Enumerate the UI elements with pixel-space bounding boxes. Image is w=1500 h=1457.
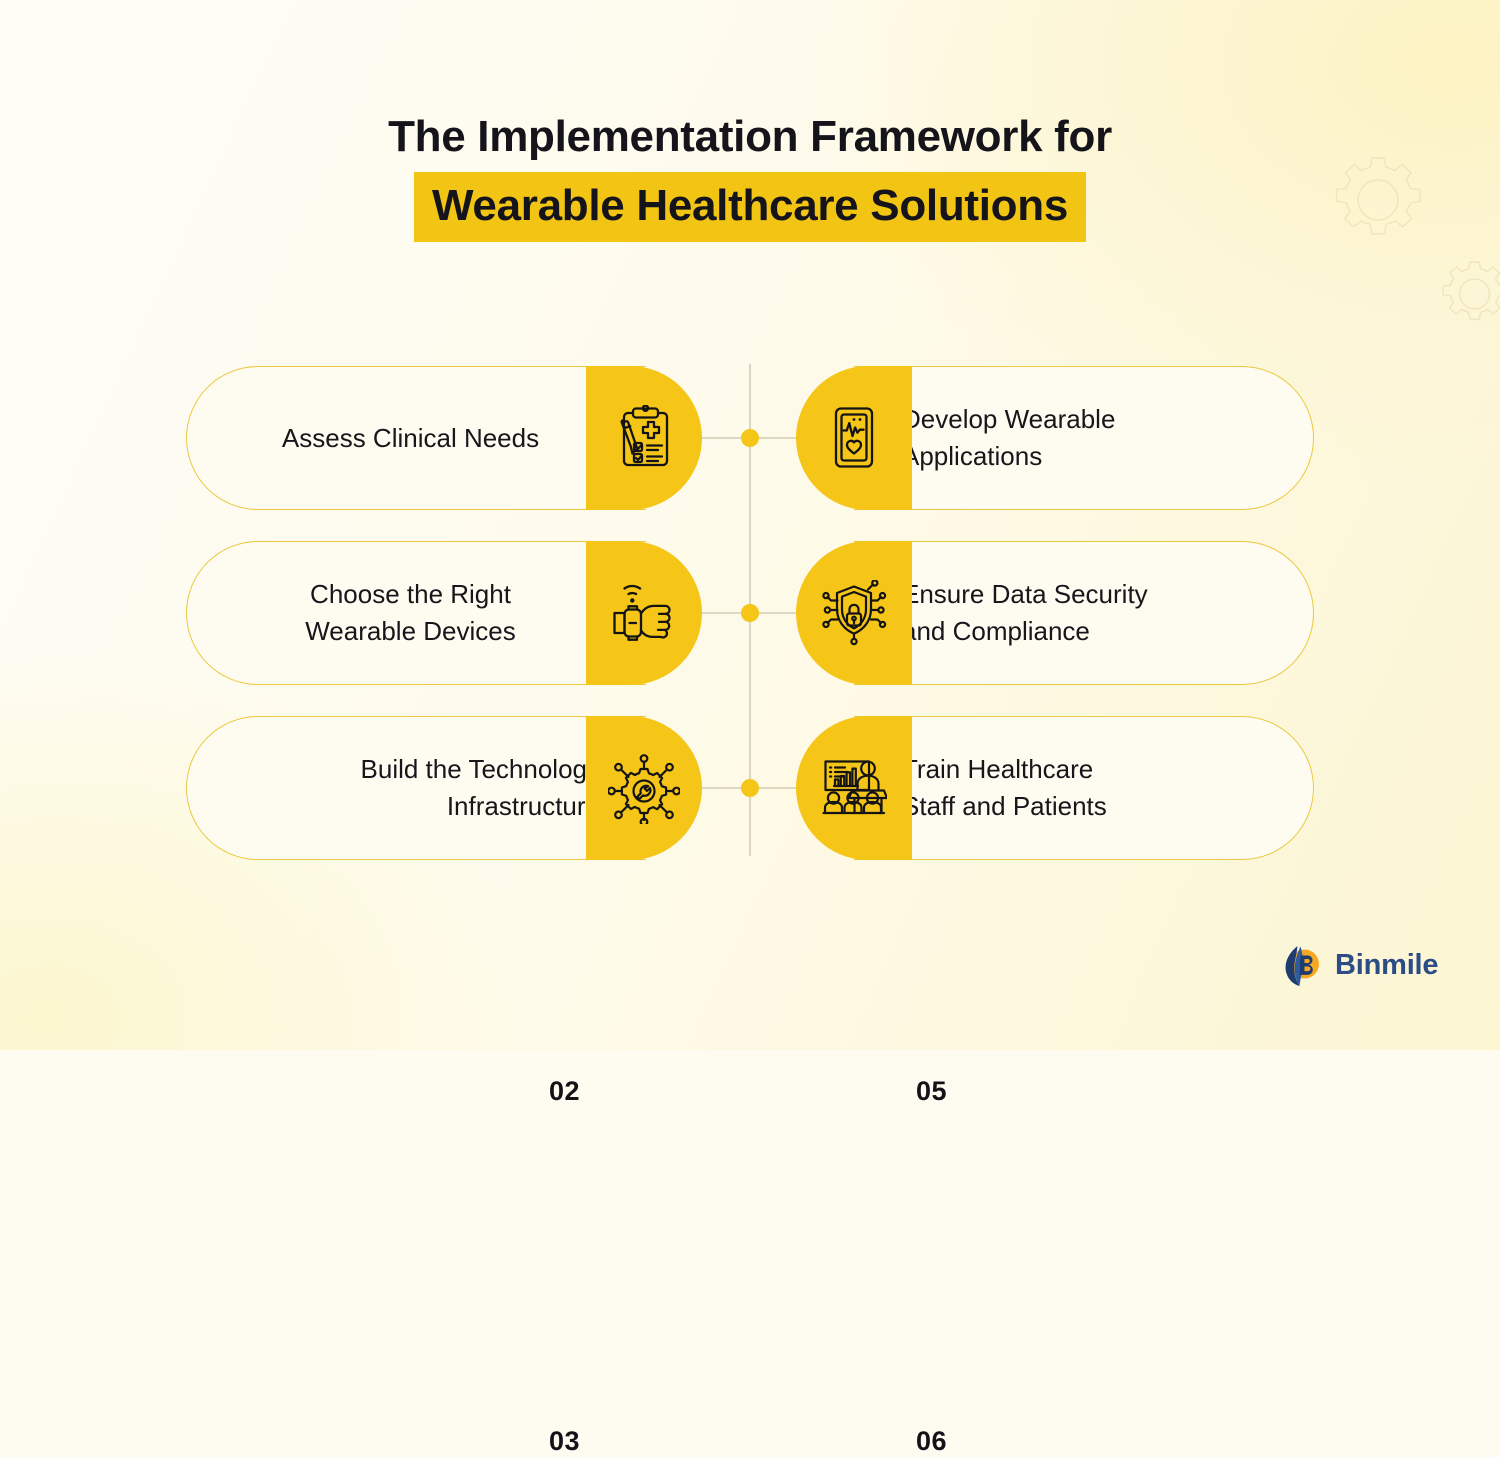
step-label-04-line-1: Develop Wearable <box>902 401 1279 438</box>
mobile-heartbeat-icon <box>825 405 883 471</box>
step-number-05: 05 <box>916 1076 947 1107</box>
step-label-02: Choose the Right Wearable Devices <box>187 576 646 650</box>
step-card-03[interactable]: Build the Technology Infrastructure <box>186 716 646 860</box>
title-line-2-highlight: Wearable Healthcare Solutions <box>414 172 1086 242</box>
step-label-06-line-1: Train Healthcare <box>902 751 1279 788</box>
step-row-3: Build the Technology Infrastructure <box>0 716 1500 860</box>
clipboard-medical-icon <box>613 405 675 471</box>
step-label-05-line-1: Ensure Data Security <box>902 576 1279 613</box>
step-label-06-line-2: Staff and Patients <box>902 788 1279 825</box>
binmile-leaf-icon <box>1278 942 1324 988</box>
shield-lock-circuit-icon <box>820 580 888 646</box>
smartwatch-wrist-icon <box>611 582 677 644</box>
step-card-06[interactable]: Train Healthcare Staff and Patients <box>854 716 1314 860</box>
step-number-02: 02 <box>549 1076 580 1107</box>
step-label-01: Assess Clinical Needs <box>187 420 646 457</box>
step-label-03-line-2: Infrastructure <box>221 788 600 825</box>
step-card-02[interactable]: Choose the Right Wearable Devices <box>186 541 646 685</box>
step-row-2: Choose the Right Wearable Devices <box>0 541 1500 685</box>
binmile-logo[interactable]: Binmile <box>1278 942 1438 988</box>
training-presentation-icon <box>821 757 887 819</box>
title-line-1: The Implementation Framework for <box>0 112 1500 162</box>
binmile-wordmark: Binmile <box>1335 949 1438 982</box>
step-label-04-line-2: Applications <box>902 438 1279 475</box>
step-label-03: Build the Technology Infrastructure <box>187 751 646 825</box>
step-row-1: Assess Clinical Needs 01 <box>0 366 1500 510</box>
step-card-04[interactable]: Develop Wearable Applications <box>854 366 1314 510</box>
gear-network-wrench-icon <box>608 752 680 824</box>
step-label-06: Train Healthcare Staff and Patients <box>854 751 1313 825</box>
step-icon-blob-02 <box>586 541 702 685</box>
step-number-06: 06 <box>916 1426 947 1457</box>
step-label-02-line-1: Choose the Right <box>221 576 600 613</box>
step-icon-blob-03 <box>586 716 702 860</box>
page-title: The Implementation Framework for Wearabl… <box>0 112 1500 242</box>
step-icon-blob-05 <box>796 541 912 685</box>
step-card-01[interactable]: Assess Clinical Needs <box>186 366 646 510</box>
step-icon-blob-01 <box>586 366 702 510</box>
step-number-03: 03 <box>549 1426 580 1457</box>
step-label-05: Ensure Data Security and Compliance <box>854 576 1313 650</box>
step-label-03-line-1: Build the Technology <box>221 751 600 788</box>
step-label-04: Develop Wearable Applications <box>854 401 1313 475</box>
step-label-02-line-2: Wearable Devices <box>221 613 600 650</box>
step-icon-blob-06 <box>796 716 912 860</box>
step-icon-blob-04 <box>796 366 912 510</box>
step-label-05-line-2: and Compliance <box>902 613 1279 650</box>
step-card-05[interactable]: Ensure Data Security and Compliance <box>854 541 1314 685</box>
